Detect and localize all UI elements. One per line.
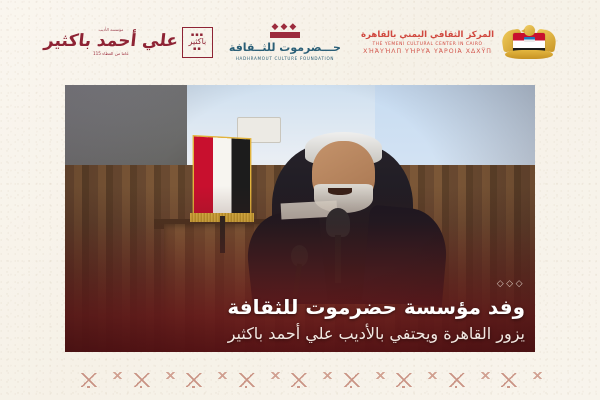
- yccc-musnad-script: ΧΉΆΥΉΛΠ ΥΉΡΥΆ ΥΆΡΟΙΆ ΧΔΧΫΠ: [363, 48, 492, 55]
- poster-canvas: مؤسسة الأديب علي أحمد باكثير 115 عاما من…: [0, 0, 600, 400]
- chevron-dot: [402, 386, 405, 389]
- diamond-ornament-icon: ◇◇◇: [65, 280, 525, 289]
- emblem-scroll: [505, 50, 553, 59]
- vee-icon: [531, 372, 544, 379]
- chevron-dot: [455, 386, 458, 389]
- ornament-unit: [275, 364, 325, 388]
- chevron-dot: [507, 386, 510, 389]
- yemeni-cultural-center-logo: المركز الثقافي اليمني بالقاهرة THE YEMEN…: [361, 30, 494, 55]
- emblem-shield-band: [524, 37, 535, 42]
- ornament-unit: [170, 364, 220, 388]
- emblem-eagle-head: [524, 25, 535, 36]
- chevron-dot: [245, 386, 248, 389]
- ornament-unit: [65, 364, 115, 388]
- hcf-bar-icon: [270, 32, 300, 38]
- logo-bar: مؤسسة الأديب علي أحمد باكثير 115 عاما من…: [0, 0, 600, 85]
- ornament-unit: [223, 364, 273, 388]
- yemen-eagle-emblem-icon: [502, 23, 556, 63]
- ornament-unit: [118, 364, 168, 388]
- logo-group: مؤسسة الأديب علي أحمد باكثير 115 عاما من…: [44, 23, 556, 63]
- chevron-dot: [297, 386, 300, 389]
- chevron-dot: [87, 386, 90, 389]
- hcf-dots-icon: ◆◆◆: [272, 24, 299, 30]
- yccc-english-name: THE YEMENI CULTURAL CENTER IN CAIRO: [373, 42, 483, 47]
- bakathir-wordmark: مؤسسة الأديب علي أحمد باكثير 115 عاما من…: [44, 28, 178, 56]
- bakathir-subtitle: 115 عاما من العطاء: [93, 52, 129, 56]
- emblem-eagle-beak: [521, 29, 525, 33]
- ornament-unit: [433, 364, 483, 388]
- chevron-dot: [192, 386, 195, 389]
- caption-block: ◇◇◇ وفد مؤسسة حضرموت للثقافة يزور القاهر…: [65, 280, 535, 345]
- ornament-unit: [380, 364, 430, 388]
- bakathir-seal-icon: ▪▪▪ باكثير ▪▪: [182, 27, 213, 58]
- ornament-unit: [485, 364, 535, 388]
- ornament-unit: [328, 364, 378, 388]
- caption-subtitle: يزور القاهرة ويحتفي بالأديب علي أحمد باك…: [65, 324, 525, 345]
- yccc-arabic-name: المركز الثقافي اليمني بالقاهرة: [361, 30, 494, 40]
- bakathir-foundation-logo: مؤسسة الأديب علي أحمد باكثير 115 عاما من…: [44, 27, 213, 58]
- hadhramout-culture-foundation-logo: ◆◆◆ حـــضرموت للثــقافة HADHRAMOUT CULTU…: [229, 24, 341, 61]
- caption-title: وفد مؤسسة حضرموت للثقافة: [65, 295, 525, 320]
- chevron-dot: [350, 386, 353, 389]
- hcf-english-name: HADHRAMOUT CULTURE FOUNDATION: [236, 56, 334, 61]
- chevron-dot: [140, 386, 143, 389]
- bakathir-name: علي أحمد باكثير: [43, 33, 179, 50]
- hcf-arabic-name: حـــضرموت للثــقافة: [229, 41, 341, 54]
- seal-bottom-marks: ▪▪: [193, 47, 202, 52]
- chevron-border-pattern: [65, 362, 535, 388]
